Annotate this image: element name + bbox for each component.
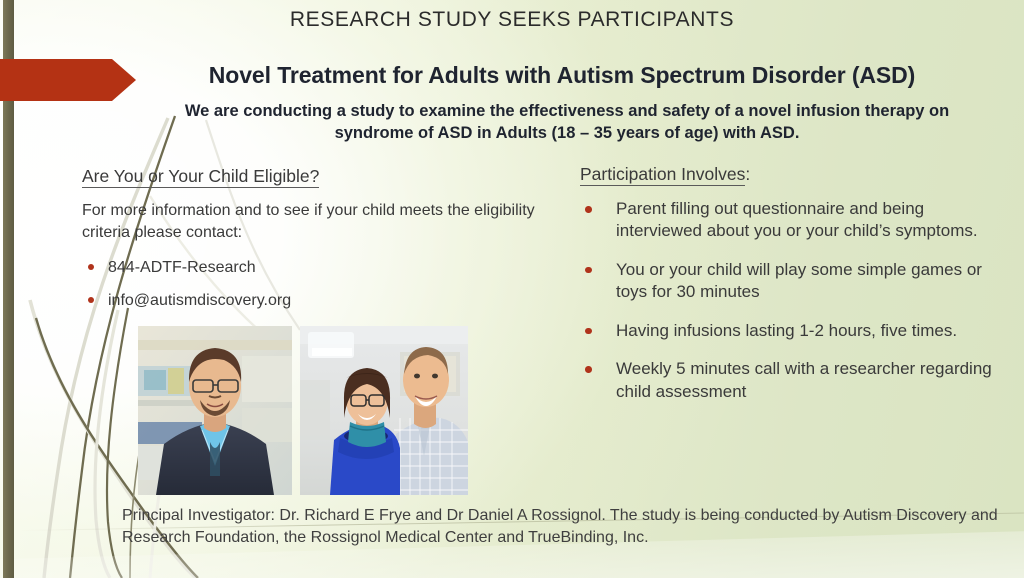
- study-subtitle: We are conducting a study to examine the…: [150, 101, 984, 145]
- list-item: Having infusions lasting 1-2 hours, five…: [580, 320, 1010, 342]
- list-item[interactable]: info@autismdiscovery.org: [82, 290, 562, 312]
- list-item: You or your child will play some simple …: [580, 259, 1010, 304]
- participation-heading: Participation Involves:: [580, 164, 1010, 185]
- photo-group: [138, 326, 468, 495]
- list-item: Parent filling out questionnaire and bei…: [580, 198, 1010, 243]
- slide-canvas: RESEARCH STUDY SEEKS PARTICIPANTS Novel …: [0, 0, 1024, 578]
- researcher-portrait-photo: [138, 326, 292, 495]
- contact-list: 844-ADTF-Research info@autismdiscovery.o…: [82, 257, 562, 312]
- footer-credits: Principal Investigator: Dr. Richard E Fr…: [122, 505, 1006, 548]
- eligibility-heading-text: Are You or Your Child Eligible?: [82, 166, 319, 188]
- participation-heading-text: Participation Involves: [580, 164, 745, 186]
- kicker-heading: RESEARCH STUDY SEEKS PARTICIPANTS: [0, 8, 1024, 32]
- red-arrow-shape: [0, 59, 136, 101]
- eligibility-column: Are You or Your Child Eligible? For more…: [82, 166, 562, 324]
- participation-column: Participation Involves: Parent filling o…: [580, 164, 1010, 419]
- eligibility-heading: Are You or Your Child Eligible?: [82, 166, 562, 187]
- participation-heading-suffix: :: [745, 164, 750, 184]
- list-item: Weekly 5 minutes call with a researcher …: [580, 358, 1010, 403]
- page-title: Novel Treatment for Adults with Autism S…: [120, 62, 1004, 89]
- list-item[interactable]: 844-ADTF-Research: [82, 257, 562, 279]
- eligibility-paragraph: For more information and to see if your …: [82, 200, 562, 244]
- participation-list: Parent filling out questionnaire and bei…: [580, 198, 1010, 403]
- two-researchers-photo: [300, 326, 468, 495]
